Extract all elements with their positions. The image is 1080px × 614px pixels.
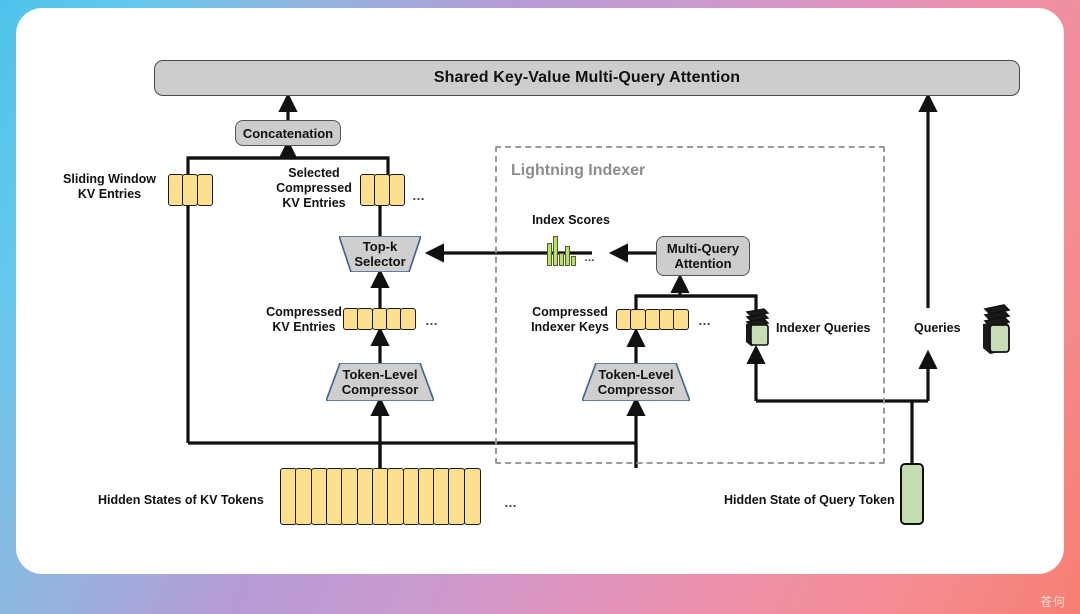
concatenation-block[interactable]: Concatenation	[235, 120, 341, 146]
key-cell	[673, 309, 689, 330]
token-cell	[464, 468, 481, 525]
hidden-state-query-token-cell	[900, 463, 924, 525]
compressed-indexer-keys-label: Compressed Indexer Keys	[511, 305, 629, 335]
token-cell	[295, 468, 312, 525]
diagram-card: Shared Key-Value Multi-Query Attention C…	[16, 8, 1064, 574]
indexer-queries-label: Indexer Queries	[776, 321, 886, 336]
compressed-kv-label: Compressed KV Entries	[252, 305, 356, 335]
token-cell	[403, 468, 420, 525]
kv-cell	[182, 174, 198, 206]
index-score-bar	[565, 246, 570, 266]
sliding-window-kv-label: Sliding Window KV Entries	[52, 172, 167, 202]
index-scores-label: Index Scores	[516, 213, 626, 228]
index-score-bar	[559, 253, 564, 266]
compressed-indexer-keys-cells	[616, 309, 689, 330]
kv-cell	[374, 174, 390, 206]
kv-cell	[400, 308, 416, 330]
selected-compressed-kv-cells	[360, 174, 405, 206]
compressed-kv-ellipsis: …	[425, 313, 439, 328]
hidden-states-ellipsis: …	[504, 495, 518, 510]
queries-stack-icon	[979, 304, 1013, 356]
selected-compressed-kv-label: Selected Compressed KV Entries	[265, 166, 363, 211]
watermark: 苍何	[1040, 593, 1066, 610]
index-score-bar	[547, 243, 552, 266]
kv-cell	[389, 174, 405, 206]
lightning-indexer-label: Lightning Indexer	[511, 162, 645, 180]
index-score-bar	[553, 236, 558, 266]
multi-query-attention-block[interactable]: Multi-Query Attention	[656, 236, 750, 276]
hidden-states-kv-tokens-label: Hidden States of KV Tokens	[98, 493, 278, 508]
shared-kv-multi-query-attention-block[interactable]: Shared Key-Value Multi-Query Attention	[154, 60, 1020, 96]
index-score-bar	[571, 256, 576, 266]
kv-cell	[197, 174, 213, 206]
compressed-indexer-keys-ellipsis: …	[698, 313, 712, 328]
token-level-compressor-right-block[interactable]: Token-Level Compressor	[582, 363, 690, 401]
hidden-state-query-token-label: Hidden State of Query Token	[724, 493, 904, 508]
index-scores-bar-chart	[547, 236, 581, 266]
multi-query-attention-label: Multi-Query Attention	[667, 241, 739, 271]
hidden-states-kv-tokens-cells	[280, 468, 481, 525]
selected-compressed-ellipsis: …	[412, 188, 426, 203]
queries-label: Queries	[914, 321, 978, 336]
token-cell	[341, 468, 358, 525]
token-cell	[387, 468, 404, 525]
kv-cell	[357, 308, 373, 330]
index-scores-ellipsis: …	[584, 252, 596, 264]
topk-selector-block[interactable]: Top-k Selector	[339, 236, 421, 272]
token-level-compressor-left-block[interactable]: Token-Level Compressor	[326, 363, 434, 401]
indexer-queries-stack-icon	[742, 308, 772, 348]
sliding-window-kv-cells	[168, 174, 213, 206]
key-cell	[630, 309, 646, 330]
compressed-kv-cells	[343, 308, 416, 330]
token-cell	[448, 468, 465, 525]
screenshot-root: Shared Key-Value Multi-Query Attention C…	[0, 0, 1080, 614]
